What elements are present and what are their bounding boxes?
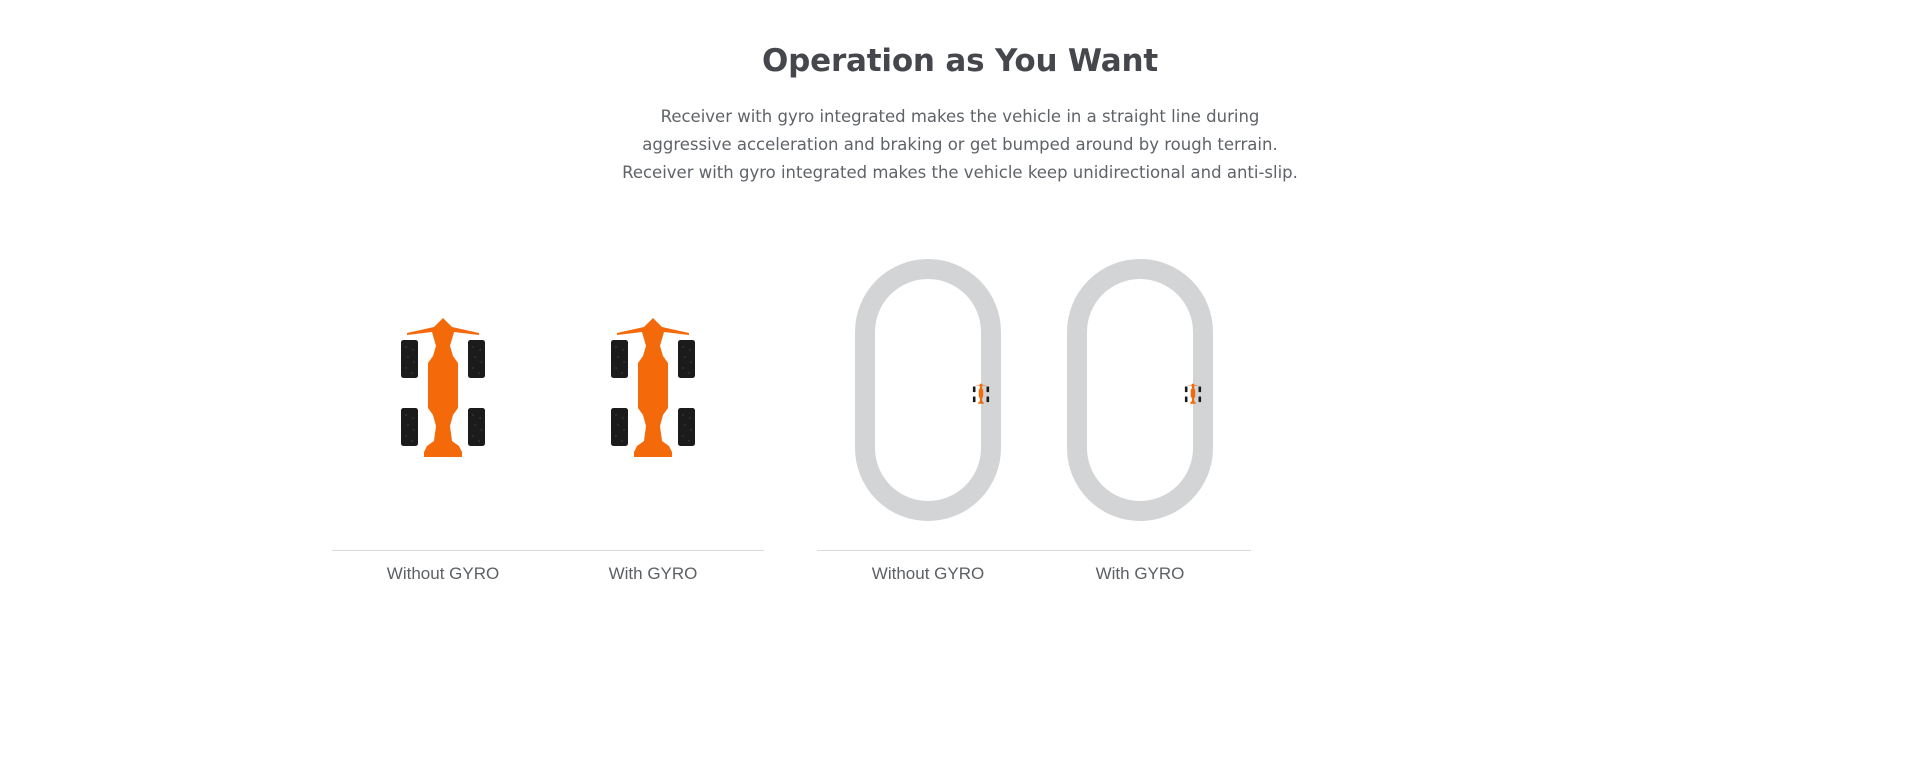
- panel-divider: [332, 550, 554, 551]
- rc-car-chassis-top-view-icon: [605, 316, 701, 464]
- section-header: Operation as You Want Receiver with gyro…: [0, 0, 1920, 187]
- description-line-1: Receiver with gyro integrated makes the …: [0, 103, 1920, 131]
- track-figure-with-gyro: [1029, 230, 1251, 550]
- panel-divider: [1029, 550, 1251, 551]
- rc-car-chassis-top-view-icon: [395, 316, 491, 464]
- panel-label-car-with-gyro: With GYRO: [542, 562, 764, 586]
- page-title: Operation as You Want: [0, 0, 1920, 82]
- description-line-3: Receiver with gyro integrated makes the …: [0, 159, 1920, 187]
- panel-divider: [542, 550, 764, 551]
- car-figure-with-gyro: [542, 230, 764, 550]
- panel-divider: [817, 550, 1039, 551]
- panel-label-track-without-gyro: Without GYRO: [817, 562, 1039, 586]
- panel-car-with-gyro: With GYRO: [542, 230, 764, 650]
- oval-track-loop-icon: [1067, 259, 1213, 521]
- panel-track-with-gyro: With GYRO: [1029, 230, 1251, 650]
- track-figure-without-gyro: [817, 230, 1039, 550]
- car-figure-without-gyro: [332, 230, 554, 550]
- comparison-panels: Without GYRO: [0, 230, 1920, 650]
- section-description: Receiver with gyro integrated makes the …: [0, 82, 1920, 187]
- operation-as-you-want-section: Operation as You Want Receiver with gyro…: [0, 0, 1920, 780]
- panel-track-without-gyro: Without GYRO: [817, 230, 1039, 650]
- description-line-2: aggressive acceleration and braking or g…: [0, 131, 1920, 159]
- panel-label-track-with-gyro: With GYRO: [1029, 562, 1251, 586]
- oval-track-loop-icon: [855, 259, 1001, 521]
- panel-car-without-gyro: Without GYRO: [332, 230, 554, 650]
- panel-label-car-without-gyro: Without GYRO: [332, 562, 554, 586]
